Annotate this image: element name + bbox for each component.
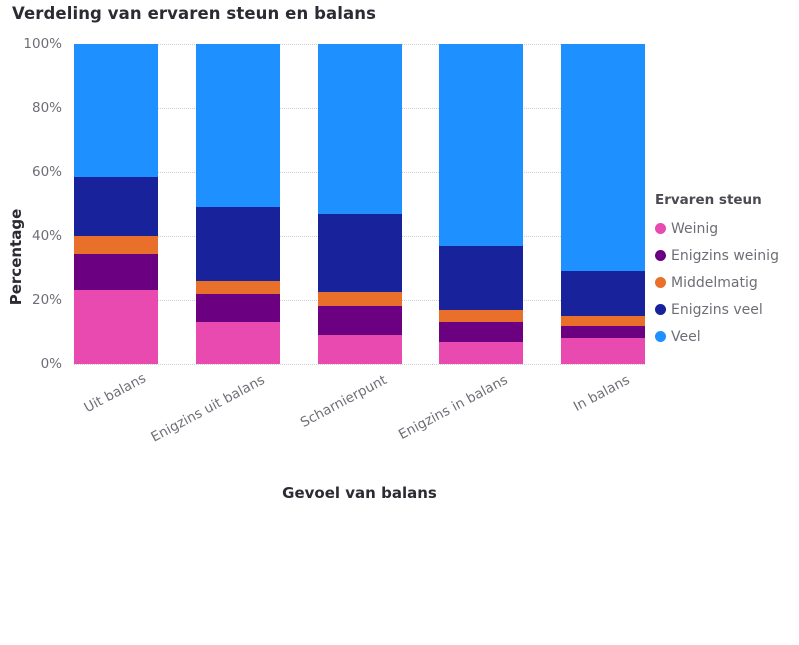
bar-group[interactable] xyxy=(561,44,645,364)
bar-segment[interactable] xyxy=(196,322,280,364)
chart-title: Verdeling van ervaren steun en balans xyxy=(12,4,376,23)
bar-segment[interactable] xyxy=(439,322,523,341)
legend-item-label: Middelmatig xyxy=(671,275,758,291)
y-axis-tick-label: 80% xyxy=(32,100,62,116)
x-axis-title: Gevoel van balans xyxy=(74,484,645,502)
bar-group[interactable] xyxy=(196,44,280,364)
legend-item-label: Weinig xyxy=(671,221,718,237)
bar-segment[interactable] xyxy=(74,44,158,177)
legend-swatch-dot-icon xyxy=(655,223,666,234)
legend-swatch-dot-icon xyxy=(655,250,666,261)
bar-segment[interactable] xyxy=(561,271,645,316)
legend-item-label: Enigzins veel xyxy=(671,302,763,318)
chart-container: Verdeling van ervaren steun en balans Pe… xyxy=(0,0,799,512)
bar-group[interactable] xyxy=(318,44,402,364)
bar-segment[interactable] xyxy=(196,44,280,207)
legend: Ervaren steun WeinigEnigzins weinigMidde… xyxy=(655,192,779,350)
y-axis-tick-label: 20% xyxy=(32,292,62,308)
bar-segment[interactable] xyxy=(561,44,645,271)
bar-segment[interactable] xyxy=(439,44,523,246)
bar-segment[interactable] xyxy=(74,290,158,364)
legend-items: WeinigEnigzins weinigMiddelmatigEnigzins… xyxy=(655,215,779,350)
x-axis: Uit balansEnigzins uit balansScharnierpu… xyxy=(74,364,645,454)
legend-title: Ervaren steun xyxy=(655,192,779,208)
bar-group[interactable] xyxy=(74,44,158,364)
y-axis: Percentage 0%20%40%60%80%100% xyxy=(0,44,68,364)
bar-segment[interactable] xyxy=(439,342,523,364)
bar-segment[interactable] xyxy=(561,326,645,339)
bars-layer xyxy=(74,44,645,364)
bar-segment[interactable] xyxy=(74,177,158,236)
legend-item[interactable]: Enigzins veel xyxy=(655,296,779,323)
bar-segment[interactable] xyxy=(318,44,402,214)
legend-item-label: Enigzins weinig xyxy=(671,248,779,264)
y-axis-tick-label: 60% xyxy=(32,164,62,180)
x-axis-tick-label: Uit balans xyxy=(81,372,145,416)
legend-swatch-dot-icon xyxy=(655,304,666,315)
legend-item[interactable]: Weinig xyxy=(655,215,779,242)
y-axis-tick-label: 100% xyxy=(23,36,62,52)
y-axis-tick-label: 40% xyxy=(32,228,62,244)
legend-swatch-dot-icon xyxy=(655,331,666,342)
bar-segment[interactable] xyxy=(318,292,402,306)
bar-group[interactable] xyxy=(439,44,523,364)
legend-item[interactable]: Middelmatig xyxy=(655,269,779,296)
bar-segment[interactable] xyxy=(74,236,158,254)
y-axis-title: Percentage xyxy=(7,177,25,337)
legend-item-label: Veel xyxy=(671,329,701,345)
bar-segment[interactable] xyxy=(196,281,280,294)
y-axis-tick-label: 0% xyxy=(41,356,62,372)
bar-segment[interactable] xyxy=(196,294,280,323)
bar-segment[interactable] xyxy=(318,306,402,335)
bar-segment[interactable] xyxy=(74,254,158,291)
bar-segment[interactable] xyxy=(439,310,523,323)
plot-area xyxy=(74,44,645,364)
bar-segment[interactable] xyxy=(561,338,645,364)
bar-segment[interactable] xyxy=(318,335,402,364)
legend-item[interactable]: Enigzins weinig xyxy=(655,242,779,269)
legend-swatch-dot-icon xyxy=(655,277,666,288)
bar-segment[interactable] xyxy=(318,214,402,292)
bar-segment[interactable] xyxy=(561,316,645,326)
legend-item[interactable]: Veel xyxy=(655,323,779,350)
bar-segment[interactable] xyxy=(439,246,523,310)
bar-segment[interactable] xyxy=(196,207,280,281)
